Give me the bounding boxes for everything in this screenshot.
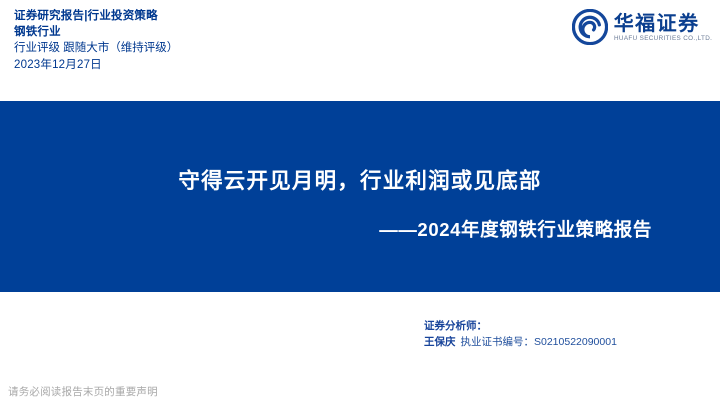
report-date-line: 2023年12月27日 <box>14 57 178 73</box>
report-meta-block: 证券研究报告|行业投资策略 钢铁行业 行业评级 跟随大市（维持评级） 2023年… <box>14 8 178 73</box>
analyst-name: 王保庆 <box>424 336 456 348</box>
footer-disclaimer: 请务必阅读报告末页的重要声明 <box>8 384 158 399</box>
logo-name-en: HUAFU SECURITIES CO.,LTD. <box>614 34 712 43</box>
report-subtitle: ——2024年度钢铁行业策略报告 <box>379 216 652 242</box>
swirl-circle-icon <box>572 9 608 45</box>
report-main-title: 守得云开见月明，行业利润或见底部 <box>0 164 720 195</box>
analyst-label: 证券分析师： <box>424 318 617 334</box>
industry-name-line: 钢铁行业 <box>14 24 178 40</box>
logo-wordmark: 华福证券 HUAFU SECURITIES CO.,LTD. <box>614 11 710 43</box>
analyst-certificate: 执业证书编号：S0210522090001 <box>461 336 617 348</box>
report-cover-page: 证券研究报告|行业投资策略 钢铁行业 行业评级 跟随大市（维持评级） 2023年… <box>0 0 720 405</box>
industry-rating-line: 行业评级 跟随大市（维持评级） <box>14 40 178 56</box>
analyst-row: 王保庆执业证书编号：S0210522090001 <box>424 334 617 350</box>
page-header: 证券研究报告|行业投资策略 钢铁行业 行业评级 跟随大市（维持评级） 2023年… <box>0 0 720 101</box>
logo-name-cn: 华福证券 <box>614 12 700 34</box>
company-logo: 华福证券 HUAFU SECURITIES CO.,LTD. <box>572 9 710 45</box>
report-type-line: 证券研究报告|行业投资策略 <box>14 8 178 24</box>
title-banner: 守得云开见月明，行业利润或见底部 ——2024年度钢铁行业策略报告 <box>0 101 720 292</box>
analyst-block: 证券分析师： 王保庆执业证书编号：S0210522090001 <box>424 318 617 350</box>
